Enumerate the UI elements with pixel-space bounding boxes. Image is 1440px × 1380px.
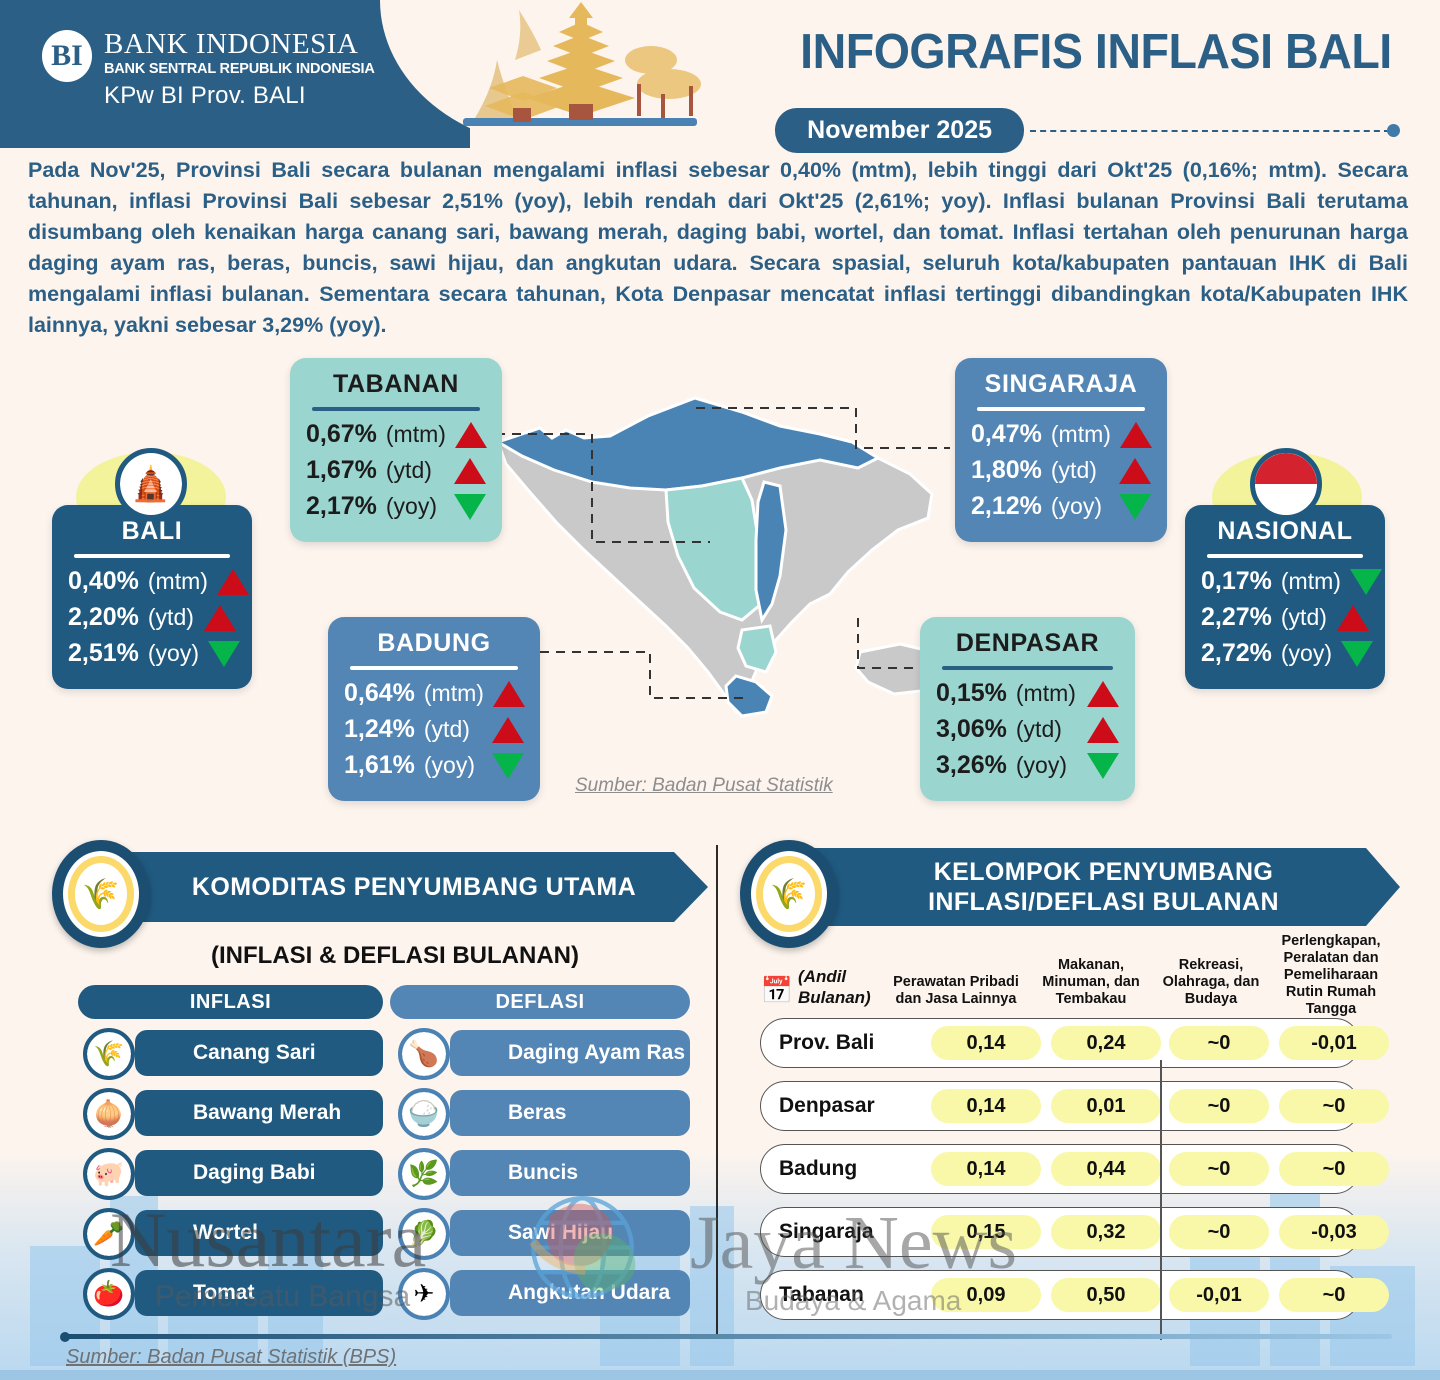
period-dashed-line [1030,130,1390,132]
logo-unit: KPw BI Prov. BALI [104,82,375,110]
table-cell: 0,01 [1051,1089,1161,1123]
table-row[interactable]: Singaraja 0,15 0,32 ~0 -0,03 [760,1207,1360,1257]
metric-period: (ytd) [424,716,470,743]
card-divider [312,407,480,411]
page-header: BI BANK INDONESIA BANK SENTRAL REPUBLIK … [0,0,1440,148]
metric-row: 0,40%(mtm) [68,567,236,596]
table-cell: 0,50 [1051,1278,1161,1312]
metric-row: 2,27%(ytd) [1201,603,1369,632]
globe-watermark-icon [510,1175,655,1320]
calendar-clock-icon: 📅 [761,975,793,1006]
table-cell: 0,32 [1051,1215,1161,1249]
row-label: Tabanan [761,1283,931,1307]
arrow-down-icon [1350,569,1382,595]
commodities-seal-icon: 🌾 [52,840,150,948]
arrow-down-icon [454,494,486,520]
table-header: 📅 (Andil Bulanan) Perawatan Pribadi dan … [760,930,1420,1018]
map-source-label: Sumber: Badan Pusat Statistik [575,775,833,797]
region-name: SINGARAJA [971,370,1151,399]
arrow-down-icon [1119,494,1151,520]
arrow-up-icon [204,605,236,631]
region-name: DENPASAR [936,629,1119,658]
narrative-paragraph: Pada Nov'25, Provinsi Bali secara bulana… [28,155,1408,341]
commodity-item-inflasi[interactable]: Wortel [135,1210,383,1256]
tomato-icon: 🍅 [83,1268,135,1320]
metric-value: 1,67% [306,456,377,485]
metric-value: 0,64% [344,679,415,708]
arrow-up-icon [492,717,524,743]
metric-row: 2,72%(yoy) [1201,639,1369,668]
table-col-header: Makanan, Minuman, dan Tembakau [1026,957,1156,1018]
metric-row: 1,61%(yoy) [344,751,524,780]
mustard-greens-icon: 🥬 [398,1208,450,1260]
footer-bar [0,1370,1440,1380]
commodity-item-deflasi[interactable]: Beras [450,1090,690,1136]
metric-period: (yoy) [1051,493,1102,520]
carrot-icon: 🥕 [83,1208,135,1260]
footer-rule [62,1334,1392,1339]
table-cell: -0,01 [1169,1278,1269,1312]
metric-row: 1,67%(ytd) [306,456,486,485]
metric-row: 2,17%(yoy) [306,492,486,521]
indonesia-flag-icon [1250,448,1322,520]
table-cell: 0,14 [931,1152,1041,1186]
pork-icon: 🐖 [83,1148,135,1200]
arrow-down-icon [1087,753,1119,779]
metric-period: (ytd) [1051,457,1097,484]
metric-value: 2,27% [1201,603,1272,632]
metric-period: (mtm) [148,568,208,595]
region-name: NASIONAL [1201,517,1369,546]
metric-period: (mtm) [1051,421,1111,448]
card-divider [350,666,518,670]
metric-value: 2,12% [971,492,1042,521]
arrow-up-icon [454,458,486,484]
table-cell: 0,15 [931,1215,1041,1249]
table-col-header: Perawatan Pribadi dan Jasa Lainnya [886,974,1026,1018]
metric-period: (yoy) [1281,640,1332,667]
arrow-up-icon [217,569,249,595]
metric-row: 2,20%(ytd) [68,603,236,632]
row-label: Denpasar [761,1094,931,1118]
arrow-up-icon [1087,681,1119,707]
metric-value: 2,72% [1201,639,1272,668]
arrow-up-icon [1119,458,1151,484]
table-row[interactable]: Prov. Bali 0,14 0,24 ~0 -0,01 [760,1018,1360,1068]
metric-value: 0,15% [936,679,1007,708]
table-cell: ~0 [1279,1152,1389,1186]
commodity-item-inflasi[interactable]: Tomat [135,1270,383,1316]
region-card-nasional[interactable]: NASIONAL 0,17%(mtm) 2,27%(ytd) 2,72%(yoy… [1185,505,1385,689]
region-name: BALI [68,517,236,546]
card-divider [977,407,1145,411]
bi-logo-mark: BI [42,30,92,82]
row-label: Singaraja [761,1220,931,1244]
table-row[interactable]: Denpasar 0,14 0,01 ~0 ~0 [760,1081,1360,1131]
table-vertical-rule [1160,1060,1162,1340]
bali-map [480,390,950,810]
metric-row: 0,15%(mtm) [936,679,1119,708]
metric-row: 1,80%(ytd) [971,456,1151,485]
region-name: TABANAN [306,370,486,399]
region-card-denpasar[interactable]: DENPASAR 0,15%(mtm) 3,06%(ytd) 3,26%(yoy… [920,617,1135,801]
region-card-badung[interactable]: BADUNG 0,64%(mtm) 1,24%(ytd) 1,61%(yoy) [328,617,540,801]
column-header-inflasi: INFLASI [78,985,383,1019]
metric-row: 3,06%(ytd) [936,715,1119,744]
logo-title: BANK INDONESIA [104,30,375,59]
table-cell: -0,01 [1279,1026,1389,1060]
rice-sack-icon: 🍚 [398,1088,450,1140]
column-header-deflasi: DEFLASI [390,985,690,1019]
arrow-down-icon [208,641,240,667]
arrow-up-icon [1120,422,1152,448]
metric-period: (ytd) [386,457,432,484]
metric-period: (mtm) [1016,680,1076,707]
metric-period: (mtm) [386,421,446,448]
metric-value: 0,67% [306,420,377,449]
table-cell: ~0 [1279,1278,1389,1312]
page-title: INFOGRAFIS INFLASI BALI [800,24,1392,80]
commodity-item-inflasi[interactable]: Daging Babi [135,1150,383,1196]
commodity-item-inflasi[interactable]: Canang Sari [135,1030,383,1076]
arrow-down-icon [1341,641,1373,667]
table-cell: -0,03 [1279,1215,1389,1249]
card-divider [74,554,230,558]
shallot-icon: 🧅 [83,1088,135,1140]
metric-value: 1,80% [971,456,1042,485]
table-cell: 0,09 [931,1278,1041,1312]
table-cell: 0,14 [931,1026,1041,1060]
period-row: November 2025 [775,108,1400,153]
commodity-item-deflasi[interactable]: Daging Ayam Ras [450,1030,690,1076]
temple-icon: 🛕 [115,448,187,520]
metric-value: 1,61% [344,751,415,780]
metric-period: (mtm) [1281,568,1341,595]
region-card-bali[interactable]: BALI 0,40%(mtm) 2,20%(ytd) 2,51%(yoy) [52,505,252,689]
commodities-banner-label: KOMODITAS PENYUMBANG UTAMA [150,872,666,902]
metric-value: 1,24% [344,715,415,744]
table-col-header: Perlengkapan, Peralatan dan Pemeliharaan… [1266,933,1396,1018]
green-bean-icon: 🌿 [398,1148,450,1200]
metric-row: 0,17%(mtm) [1201,567,1369,596]
period-end-dot [1387,124,1400,137]
metric-value: 2,51% [68,639,139,668]
metric-row: 2,51%(yoy) [68,639,236,668]
metric-value: 2,20% [68,603,139,632]
metric-period: (ytd) [1016,716,1062,743]
table-cell: ~0 [1169,1026,1269,1060]
region-card-tabanan[interactable]: TABANAN 0,67%(mtm) 1,67%(ytd) 2,17%(yoy) [290,358,502,542]
metric-value: 3,06% [936,715,1007,744]
table-cell: 0,14 [931,1089,1041,1123]
metric-value: 0,17% [1201,567,1272,596]
commodities-subtitle: (INFLASI & DEFLASI BULANAN) [90,942,700,970]
table-cell: ~0 [1169,1152,1269,1186]
groups-banner-label: KELOMPOK PENYUMBANG INFLASI/DEFLASI BULA… [795,857,1400,917]
metric-value: 0,40% [68,567,139,596]
metric-period: (yoy) [386,493,437,520]
metric-row: 0,47%(mtm) [971,420,1151,449]
row-label: Badung [761,1157,931,1181]
infographic-page: BI BANK INDONESIA BANK SENTRAL REPUBLIK … [0,0,1440,1380]
arrow-up-icon [493,681,525,707]
footer-rule-dot [60,1332,70,1342]
metric-period: (yoy) [424,752,475,779]
arrow-up-icon [455,422,487,448]
arrow-down-icon [492,753,524,779]
card-divider [942,666,1113,670]
metric-period: (yoy) [148,640,199,667]
footer-source-label: Sumber: Badan Pusat Statistik (BPS) [66,1346,396,1369]
commodities-banner: KOMODITAS PENYUMBANG UTAMA [108,852,708,922]
region-name: BADUNG [344,629,524,658]
canang-sari-icon: 🌾 [83,1028,135,1080]
table-col-header: Rekreasi, Olahraga, dan Budaya [1156,957,1266,1018]
metric-value: 3,26% [936,751,1007,780]
table-row[interactable]: Badung 0,14 0,44 ~0 ~0 [760,1144,1360,1194]
metric-row: 0,67%(mtm) [306,420,486,449]
card-divider [1207,554,1363,558]
table-cell: 0,24 [1051,1026,1161,1060]
metric-row: 3,26%(yoy) [936,751,1119,780]
metric-row: 0,64%(mtm) [344,679,524,708]
table-row[interactable]: Tabanan 0,09 0,50 -0,01 ~0 [760,1270,1360,1320]
metric-period: (ytd) [148,604,194,631]
metric-period: (ytd) [1281,604,1327,631]
arrow-up-icon [1337,605,1369,631]
chicken-icon: 🍗 [398,1028,450,1080]
section-divider [716,845,718,1335]
andil-label: (Andil Bulanan) [794,966,886,1018]
table-cell: ~0 [1279,1089,1389,1123]
table-cell: ~0 [1169,1089,1269,1123]
bank-indonesia-logo: BI BANK INDONESIA BANK SENTRAL REPUBLIK … [42,30,375,110]
commodity-item-inflasi[interactable]: Bawang Merah [135,1090,383,1136]
region-card-singaraja[interactable]: SINGARAJA 0,47%(mtm) 1,80%(ytd) 2,12%(yo… [955,358,1167,542]
groups-seal-icon: 🌾 [740,840,838,948]
table-cell: 0,44 [1051,1152,1161,1186]
airplane-icon: ✈ [398,1268,450,1320]
period-badge: November 2025 [775,108,1024,153]
bali-temple-icon [455,0,705,140]
row-label: Prov. Bali [761,1031,931,1055]
metric-period: (mtm) [424,680,484,707]
metric-value: 0,47% [971,420,1042,449]
metric-value: 2,17% [306,492,377,521]
groups-banner: KELOMPOK PENYUMBANG INFLASI/DEFLASI BULA… [795,848,1400,926]
metric-row: 2,12%(yoy) [971,492,1151,521]
logo-subtitle: BANK SENTRAL REPUBLIK INDONESIA [104,61,375,77]
arrow-up-icon [1087,717,1119,743]
metric-period: (yoy) [1016,752,1067,779]
table-cell: ~0 [1169,1215,1269,1249]
metric-row: 1,24%(ytd) [344,715,524,744]
